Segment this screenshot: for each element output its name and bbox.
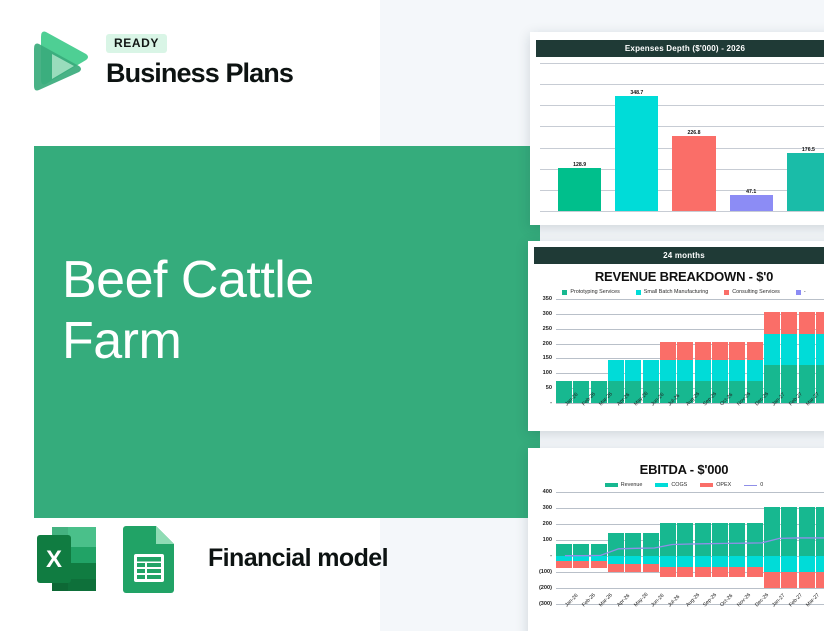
- legend-swatch: [562, 290, 567, 295]
- column-segment: [799, 312, 815, 334]
- revenue-plot: 35030025020015010050- Jan-26Feb-26Mar-26…: [534, 299, 824, 421]
- column-segment: [781, 312, 797, 334]
- legend-swatch: [744, 485, 757, 486]
- bar: 128.9: [558, 168, 601, 211]
- y-axis-tick-label: 150: [543, 355, 552, 361]
- column-segment: [712, 360, 728, 381]
- slide-root: READY Business Plans Beef Cattle Farm X: [0, 0, 824, 631]
- legend-label: -: [804, 289, 806, 295]
- legend-swatch: [605, 483, 618, 487]
- page-title: Beef Cattle Farm: [62, 250, 314, 372]
- ready-badge: READY: [106, 34, 167, 53]
- bar-value-label: 128.9: [558, 162, 601, 168]
- legend-label: COGS: [671, 482, 687, 488]
- financial-model-label: Financial model: [208, 544, 388, 573]
- column-segment: [677, 360, 693, 381]
- y-axis-tick-label: (200): [539, 585, 552, 591]
- y-axis-tick-label: 250: [543, 326, 552, 332]
- legend-swatch: [796, 290, 801, 295]
- y-axis-tick-label: 300: [543, 311, 552, 317]
- legend-item: Consulting Services: [724, 289, 780, 295]
- chart-card-ebitda: EBITDA - $'000 RevenueCOGSOPEX0 40030020…: [528, 448, 824, 631]
- column-segment: [712, 342, 728, 360]
- svg-text:X: X: [46, 546, 62, 573]
- ebitda-plot: 400300200100-(100)(200)(300) Jan-26Feb-2…: [534, 492, 824, 622]
- y-axis-tick-label: (300): [539, 601, 552, 607]
- legend-label: Small Batch Manufacturing: [644, 289, 708, 295]
- legend-item: Revenue: [605, 482, 643, 488]
- column-segment: [764, 312, 780, 334]
- chart-title-ebitda: EBITDA - $'000: [534, 462, 824, 477]
- column-segment: [781, 334, 797, 365]
- y-axis-tick-label: -: [550, 553, 552, 559]
- column-segment: [660, 342, 676, 360]
- y-axis-tick-label: 350: [543, 296, 552, 302]
- column-segment: [747, 342, 763, 360]
- chart-legend-revenue: Prototyping ServicesSmall Batch Manufact…: [534, 289, 824, 295]
- y-axis-tick-label: 200: [543, 341, 552, 347]
- y-axis-tick-label: -: [550, 400, 552, 406]
- chart-banner-24-months: 24 months: [534, 247, 824, 264]
- chart-title-revenue-breakdown: REVENUE BREAKDOWN - $'0: [534, 269, 824, 284]
- microsoft-excel-icon: X: [34, 521, 102, 595]
- column-segment: [764, 334, 780, 365]
- legend-label: Prototyping Services: [570, 289, 619, 295]
- legend-swatch: [700, 483, 713, 487]
- hero-title-block: Beef Cattle Farm: [34, 146, 540, 518]
- column-segment: [816, 334, 824, 365]
- y-axis-tick-label: 400: [543, 489, 552, 495]
- legend-item: -: [796, 289, 806, 295]
- brand-text: READY Business Plans: [106, 32, 293, 88]
- column-segment: [677, 342, 693, 360]
- bar-fill: [672, 136, 715, 211]
- column-segment: [608, 360, 624, 381]
- y-axis-tick-label: 100: [543, 370, 552, 376]
- line-series-path: [565, 538, 824, 556]
- brand-lockup: READY Business Plans: [30, 28, 293, 92]
- legend-swatch: [724, 290, 729, 295]
- bar-fill: [730, 195, 773, 211]
- legend-label: OPEX: [716, 482, 731, 488]
- double-play-triangle-logo-icon: [30, 28, 92, 92]
- legend-swatch: [636, 290, 641, 295]
- column-segment: [747, 360, 763, 381]
- y-axis-tick-label: 200: [543, 521, 552, 527]
- y-axis-tick-label: (100): [539, 569, 552, 575]
- legend-item: COGS: [655, 482, 687, 488]
- bar-series: 128.9348.7226.847.1176.5: [558, 63, 824, 211]
- column-segment: [729, 342, 745, 360]
- legend-label: Consulting Services: [732, 289, 780, 295]
- column-segment: [816, 312, 824, 334]
- bar-fill: [615, 96, 658, 211]
- expenses-depth-plot: 128.9348.7226.847.1176.5: [536, 63, 824, 211]
- legend-item: Small Batch Manufacturing: [636, 289, 708, 295]
- bar-fill: [558, 168, 601, 211]
- column-segment: [695, 342, 711, 360]
- chart-title-expenses-depth: Expenses Depth ($'000) - 2026: [536, 40, 824, 57]
- chart-card-expenses-depth: Expenses Depth ($'000) - 2026 128.9348.7…: [530, 32, 824, 225]
- bar-value-label: 226.8: [672, 130, 715, 136]
- bar: 348.7: [615, 96, 658, 211]
- column-segment: [695, 360, 711, 381]
- bar-value-label: 348.7: [615, 90, 658, 96]
- bar-fill: [787, 153, 824, 211]
- chart-legend-ebitda: RevenueCOGSOPEX0: [534, 482, 824, 488]
- column-segment: [799, 334, 815, 365]
- bar-value-label: 47.1: [730, 189, 773, 195]
- legend-item: OPEX: [700, 482, 731, 488]
- legend-item: 0: [744, 482, 763, 488]
- gridline: [540, 211, 824, 212]
- chart-card-revenue-breakdown: 24 months REVENUE BREAKDOWN - $'0 Protot…: [528, 241, 824, 431]
- y-axis-tick-label: 300: [543, 505, 552, 511]
- column-segment: [625, 360, 641, 381]
- google-sheets-icon: [116, 521, 184, 595]
- brand-name: Business Plans: [106, 59, 293, 87]
- bar-value-label: 176.5: [787, 147, 824, 153]
- legend-item: Prototyping Services: [562, 289, 619, 295]
- column-segment: [660, 360, 676, 381]
- bar: 47.1: [730, 195, 773, 211]
- bar: 176.5: [787, 153, 824, 211]
- column-segment: [729, 360, 745, 381]
- bar: 226.8: [672, 136, 715, 211]
- legend-label: Revenue: [621, 482, 643, 488]
- y-axis-tick-label: 100: [543, 537, 552, 543]
- legend-label: 0: [760, 482, 763, 488]
- y-axis-tick-label: 50: [546, 385, 552, 391]
- file-formats-row: X Financial model: [34, 521, 388, 595]
- zero-line-series: [556, 492, 824, 631]
- column-segment: [643, 360, 659, 381]
- legend-swatch: [655, 483, 668, 487]
